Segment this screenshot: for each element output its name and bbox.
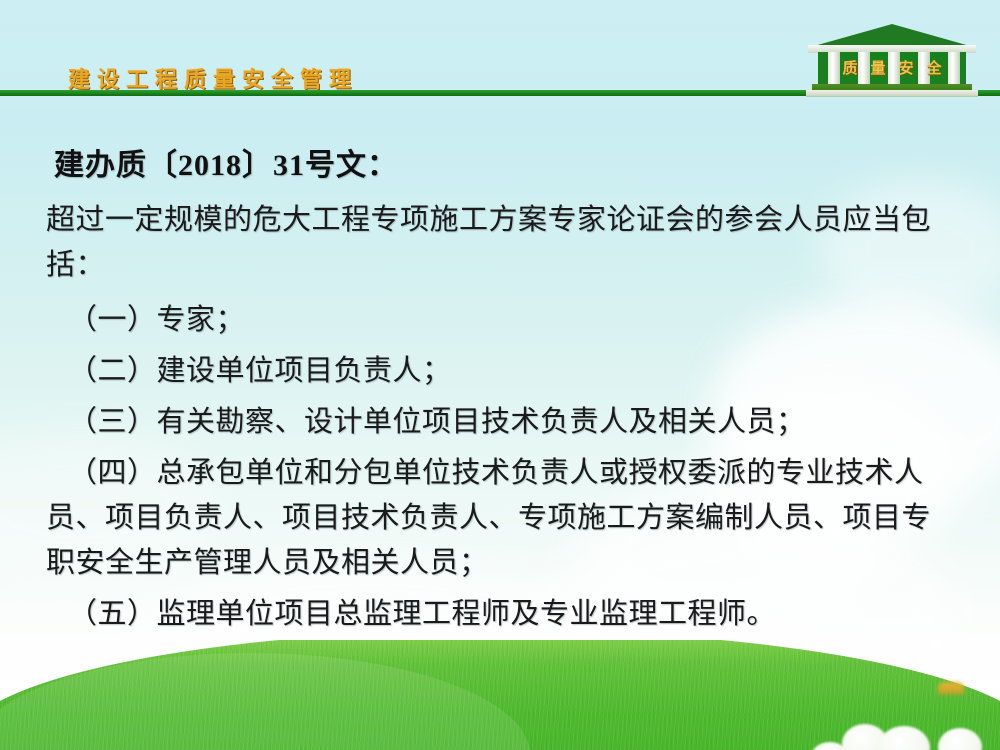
- sprout-icon: [938, 682, 964, 694]
- list-item: （四）总承包单位和分包单位技术负责人或授权委派的专业技术人员、项目负责人、项目技…: [46, 451, 946, 586]
- slide-header: 建设工程质量安全管理 质量安全: [0, 0, 1000, 100]
- list-item: （三）有关勘察、设计单位项目技术负责人及相关人员；: [46, 400, 946, 445]
- logo-text: 质量安全: [806, 57, 978, 78]
- temple-pediment-icon: [814, 24, 970, 46]
- document-title: 建办质〔2018〕31号文：: [54, 140, 946, 184]
- presentation-slide: 建设工程质量安全管理 质量安全 建办质〔2018〕31号文： 超过一定规模的危大…: [0, 0, 1000, 750]
- list-item: （五）监理单位项目总监理工程师及专业监理工程师。: [46, 592, 946, 637]
- list-item: （一）专家；: [46, 298, 946, 343]
- temple-base-icon: [806, 90, 978, 97]
- lead-paragraph: 超过一定规模的危大工程专项施工方案专家论证会的参会人员应当包括：: [46, 198, 946, 288]
- list-item: （二）建设单位项目负责人；: [46, 349, 946, 394]
- quality-safety-temple-logo: 质量安全: [806, 24, 978, 96]
- slide-content: 建办质〔2018〕31号文： 超过一定规模的危大工程专项施工方案专家论证会的参会…: [46, 140, 946, 643]
- grass-footer-decoration: [0, 640, 1000, 750]
